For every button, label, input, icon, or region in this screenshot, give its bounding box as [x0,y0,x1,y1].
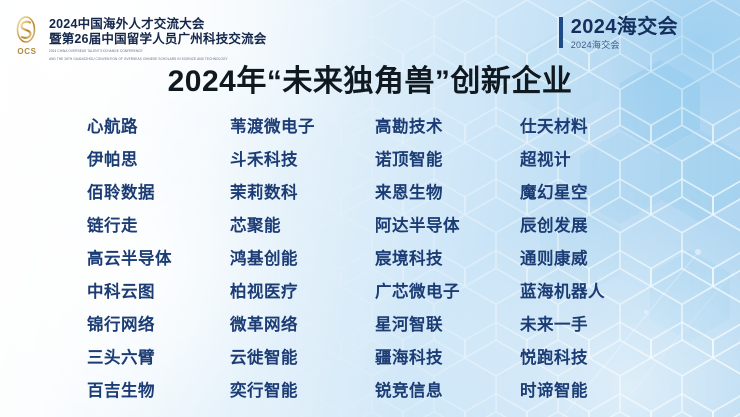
company-name: 未来一手 [520,315,677,335]
company-name: 阿达半导体 [375,216,520,236]
company-name: 苇渡微电子 [230,117,375,137]
ocs-logo-text: OCS [10,47,44,56]
ocs-logo: OCS [10,16,44,56]
company-name: 时谛智能 [520,381,677,401]
company-name: 悦跑科技 [520,348,677,368]
company-name: 疆海科技 [375,348,520,368]
company-name: 宸境科技 [375,249,520,269]
conference-subtitle-en-line1: 2024 CHINA OVERSEAS TALENT EXCHANGE CONF… [49,49,267,54]
company-name: 鸿基创能 [230,249,375,269]
conference-brand-left: OCS 2024中国海外人才交流大会 暨第26届中国留学人员广州科技交流会 20… [10,16,267,61]
company-name: 中科云图 [87,282,230,302]
company-name: 超视计 [520,150,677,170]
company-name: 诺顶智能 [375,150,520,170]
company-name: 佰聆数据 [87,183,230,203]
company-name: 柏视医疗 [230,282,375,302]
conference-title-block: 2024中国海外人才交流大会 暨第26届中国留学人员广州科技交流会 2024 C… [49,16,267,61]
event-short-name: 2024海交会 [571,16,678,38]
company-name: 辰创发展 [520,216,677,236]
conference-subtitle-en-line2: AND THE 26TH GUANGZHOU CONVENTION OF OVE… [49,57,267,62]
company-name: 斗禾科技 [230,150,375,170]
company-name: 茉莉数科 [230,183,375,203]
company-name: 高勘技术 [375,117,520,137]
poster-canvas: OCS 2024中国海外人才交流大会 暨第26届中国留学人员广州科技交流会 20… [0,0,740,417]
company-name: 芯聚能 [230,216,375,236]
company-name: 蓝海机器人 [520,282,677,302]
conference-title-line1: 2024中国海外人才交流大会 [49,17,267,32]
ocs-emblem-icon [15,16,37,43]
company-name: 广芯微电子 [375,282,520,302]
company-name: 星河智联 [375,315,520,335]
company-name: 奕行智能 [230,381,375,401]
company-name: 来恩生物 [375,183,520,203]
company-name: 百吉生物 [87,381,230,401]
conference-title-line2: 暨第26届中国留学人员广州科技交流会 [49,32,267,47]
company-name: 锐竞信息 [375,381,520,401]
company-list-grid: 心航路 苇渡微电子 高勘技术 仕天材料 伊帕思 斗禾科技 诺顶智能 超视计 佰聆… [87,110,677,407]
company-name: 链行走 [87,216,230,236]
poster-header: OCS 2024中国海外人才交流大会 暨第26届中国留学人员广州科技交流会 20… [0,0,740,62]
company-name: 三头六臂 [87,348,230,368]
accent-bar [559,17,563,48]
company-name: 高云半导体 [87,249,230,269]
company-name: 仕天材料 [520,117,677,137]
company-name: 锦行网络 [87,315,230,335]
company-name: 伊帕思 [87,150,230,170]
event-short-name-block: 2024海交会 2024海交会 [559,16,678,51]
page-title: 2024年“未来独角兽”创新企业 [0,62,740,102]
company-name: 心航路 [87,117,230,137]
company-name: 云徙智能 [230,348,375,368]
company-name: 通则康威 [520,249,677,269]
company-name: 微革网络 [230,315,375,335]
company-name: 魔幻星空 [520,183,677,203]
event-short-name-text: 2024海交会 2024海交会 [571,16,678,51]
event-short-name-sub: 2024海交会 [571,39,678,51]
